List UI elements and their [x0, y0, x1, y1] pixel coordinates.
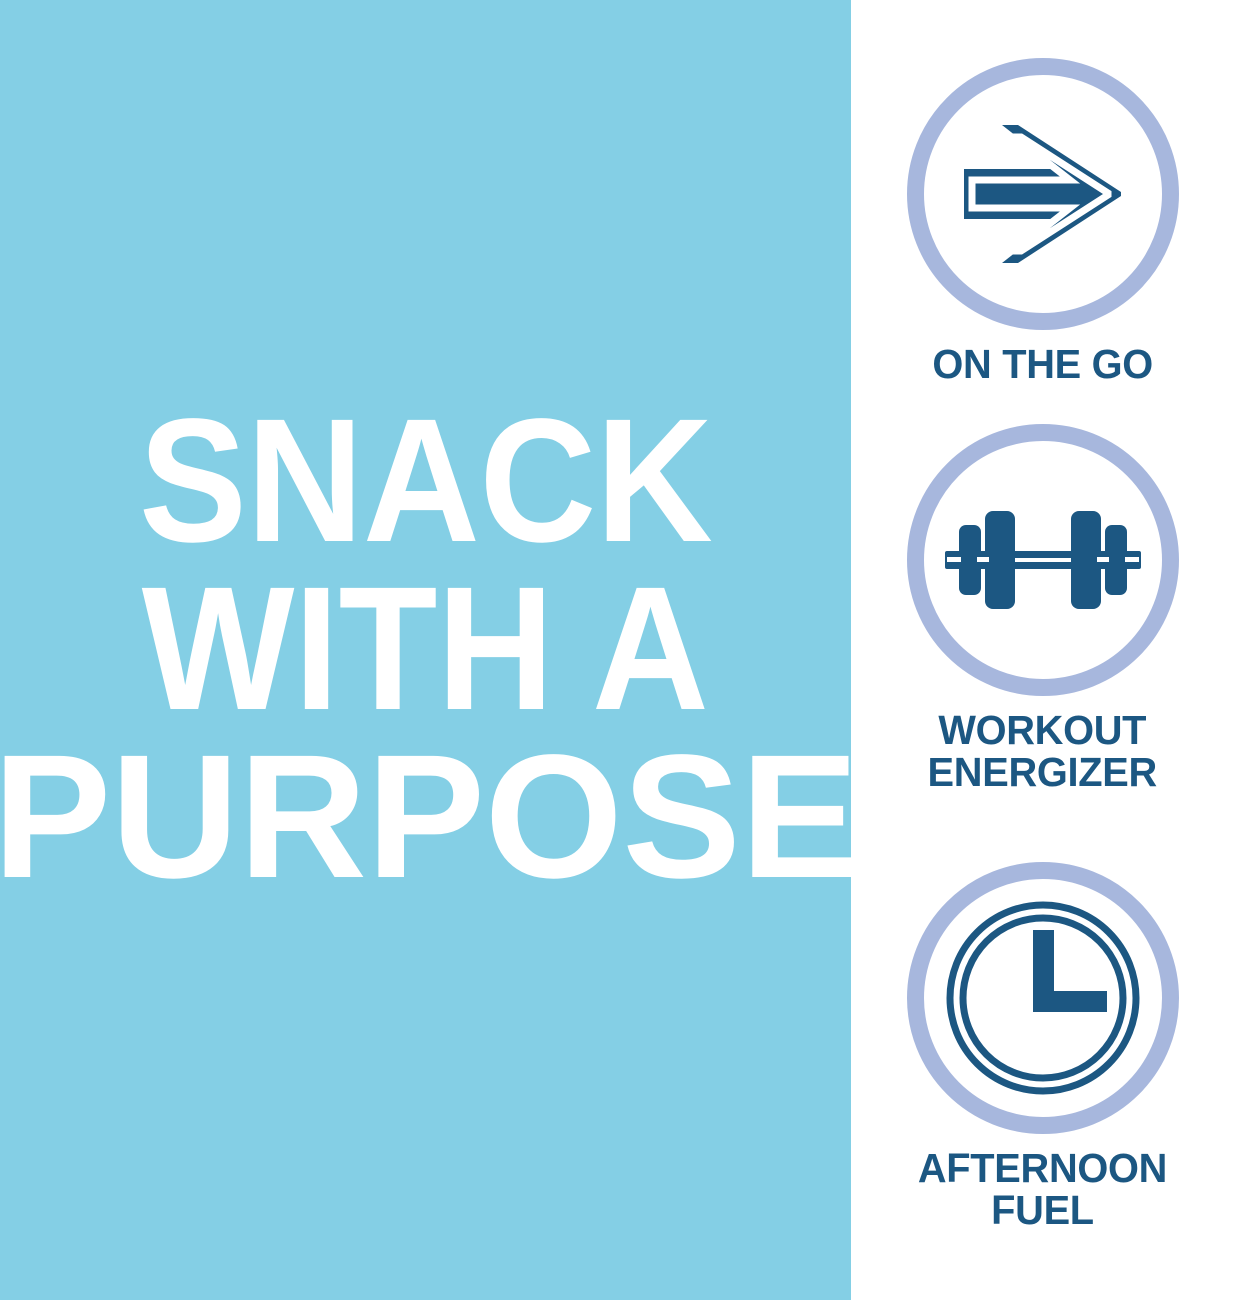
- clock-icon: [945, 900, 1141, 1096]
- arrow-right-icon: [958, 119, 1128, 269]
- feature-list: ON THE GO: [851, 0, 1234, 1300]
- feature-item-on-the-go: ON THE GO: [851, 58, 1234, 386]
- headline-line-1: SNACK: [139, 400, 712, 564]
- feature-label-afternoon-fuel: AFTERNOON FUEL: [918, 1148, 1167, 1232]
- feature-label-on-the-go: ON THE GO: [932, 344, 1153, 386]
- poster-root: SNACK WITH A PURPOSE ON THE GO: [0, 0, 1234, 1300]
- page-title: SNACK WITH A PURPOSE: [0, 0, 851, 1300]
- icon-circle-afternoon-fuel: [907, 862, 1179, 1134]
- feature-item-workout-energizer: WORKOUT ENERGIZER: [851, 424, 1234, 794]
- icon-circle-workout-energizer: [907, 424, 1179, 696]
- icon-circle-on-the-go: [907, 58, 1179, 330]
- headline-line-3: PURPOSE: [0, 736, 858, 900]
- feature-item-afternoon-fuel: AFTERNOON FUEL: [851, 862, 1234, 1232]
- feature-label-workout-energizer: WORKOUT ENERGIZER: [928, 710, 1157, 794]
- dumbbell-icon: [945, 501, 1141, 619]
- headline-line-2: WITH A: [142, 568, 709, 732]
